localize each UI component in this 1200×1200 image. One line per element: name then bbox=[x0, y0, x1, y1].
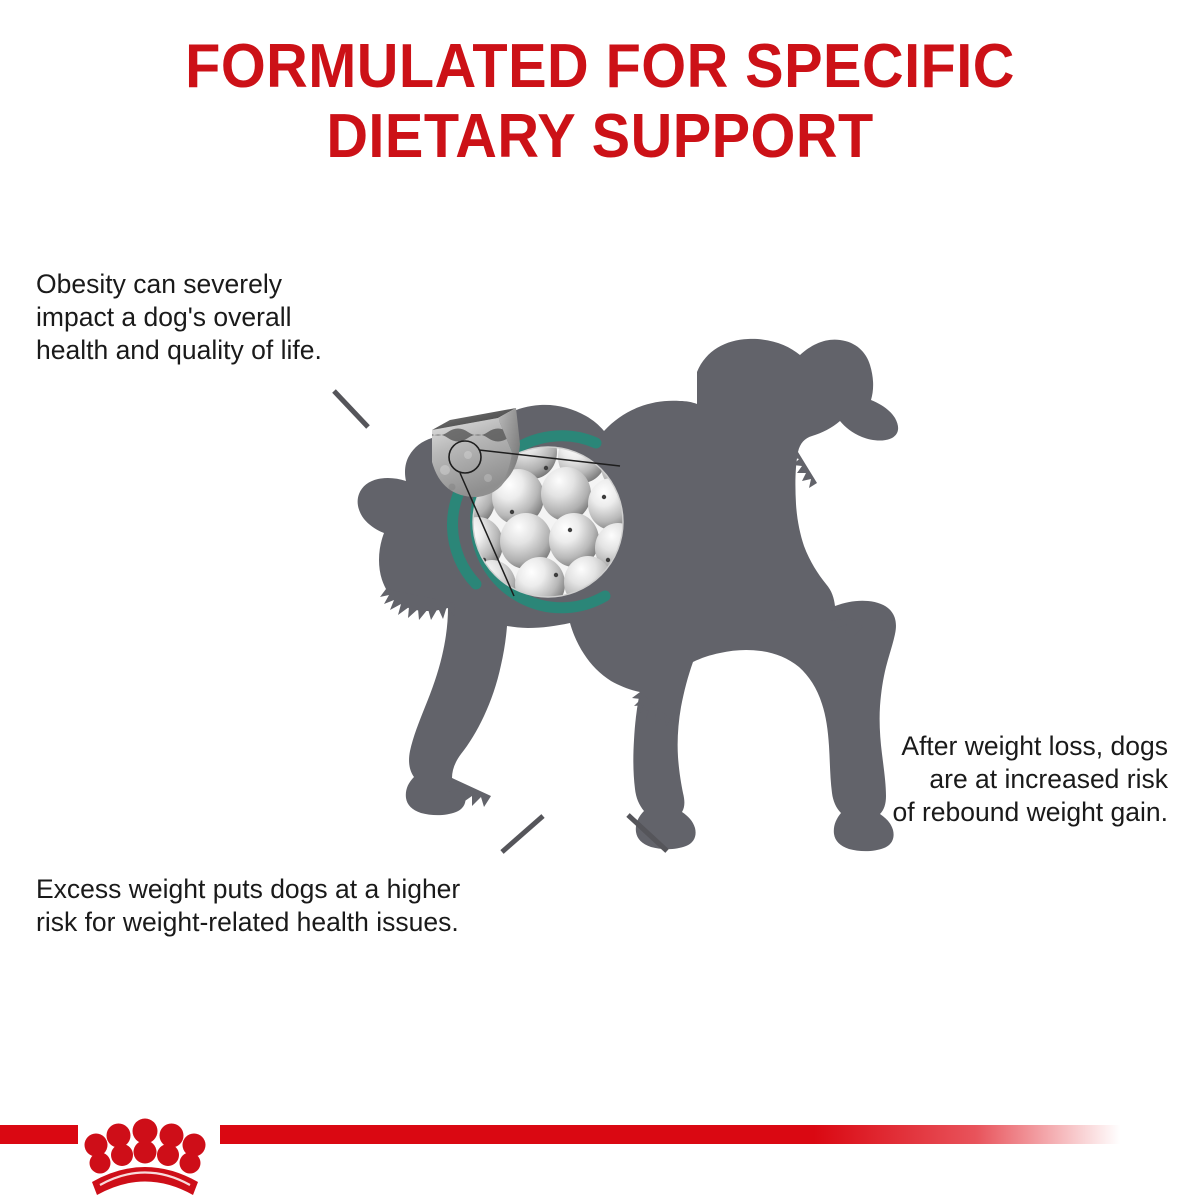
brand-bar-right bbox=[220, 1125, 1120, 1144]
brand-footer bbox=[0, 1100, 1200, 1200]
callout-text-rebound: After weight loss, dogs are at increased… bbox=[788, 730, 1168, 829]
brand-bar-left bbox=[0, 1125, 78, 1144]
callout-text-excess-weight: Excess weight puts dogs at a higher risk… bbox=[36, 873, 636, 939]
callout-text-obesity: Obesity can severely impact a dog's over… bbox=[36, 268, 416, 367]
crown-icon bbox=[80, 1100, 210, 1200]
infographic-page: FORMULATED FOR SPECIFIC DIETARY SUPPORT bbox=[0, 0, 1200, 1200]
dog-illustration bbox=[0, 0, 1200, 1200]
